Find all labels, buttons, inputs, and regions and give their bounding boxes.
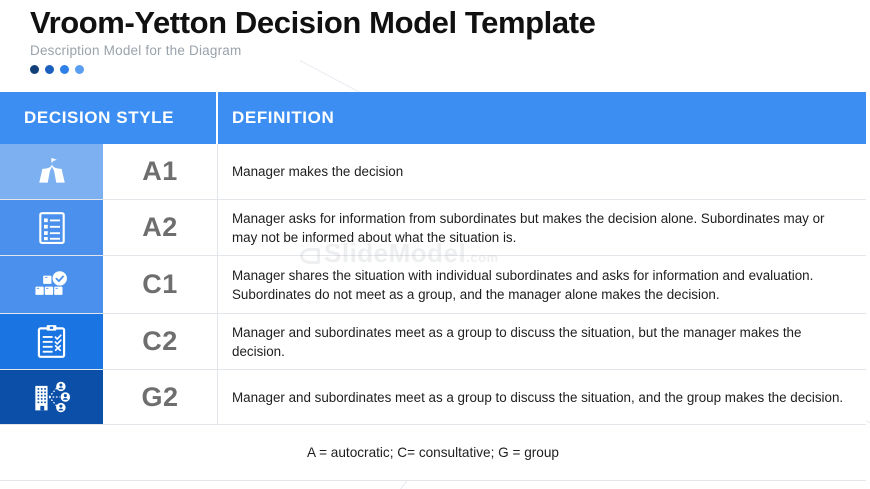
definition-text: Manager and subordinates meet as a group… [218,370,866,424]
dot-1 [30,65,39,74]
column-header-decision-style: DECISION STYLE [0,92,218,144]
table-row[interactable]: G2 Manager and subordinates meet as a gr… [0,370,866,425]
icon-cell [0,144,103,199]
table-row[interactable]: A2 Manager asks for information from sub… [0,200,866,256]
icon-cell [0,200,103,255]
decision-code: G2 [103,370,218,424]
clipboard-check-icon [36,324,67,359]
decision-code: C2 [103,314,218,369]
definition-text: Manager and subordinates meet as a group… [218,314,866,369]
definition-text: Manager shares the situation with indivi… [218,256,866,313]
table-row[interactable]: C1 Manager shares the situation with ind… [0,256,866,314]
table-footer-legend: A = autocratic; C= consultative; G = gro… [0,425,866,481]
decision-code: A2 [103,200,218,255]
table-row[interactable]: C2 Manager and subordinates meet as a gr… [0,314,866,370]
dot-4 [75,65,84,74]
definition-text: Manager makes the decision [218,144,866,199]
page-title: Vroom-Yetton Decision Model Template [30,6,596,40]
icon-cell [0,256,103,313]
checklist-document-icon [37,211,67,245]
blocks-check-icon [33,269,71,301]
forked-road-icon [35,155,69,189]
slide-canvas: Vroom-Yetton Decision Model Template Des… [0,0,870,489]
definition-text: Manager asks for information from subord… [218,200,866,255]
building-network-icon [32,380,72,414]
page-subtitle: Description Model for the Diagram [30,43,596,58]
icon-cell [0,314,103,369]
decision-code: C1 [103,256,218,313]
table-header-row: DECISION STYLE DEFINITION [0,92,866,144]
table-row[interactable]: A1 Manager makes the decision [0,144,866,200]
icon-cell [0,370,103,424]
decision-code: A1 [103,144,218,199]
dot-decoration-group [30,65,596,74]
decision-style-table: DECISION STYLE DEFINITION A1 Manager mak… [0,92,866,481]
dot-2 [45,65,54,74]
dot-3 [60,65,69,74]
column-header-definition: DEFINITION [218,92,866,144]
slide-header: Vroom-Yetton Decision Model Template Des… [30,6,596,74]
